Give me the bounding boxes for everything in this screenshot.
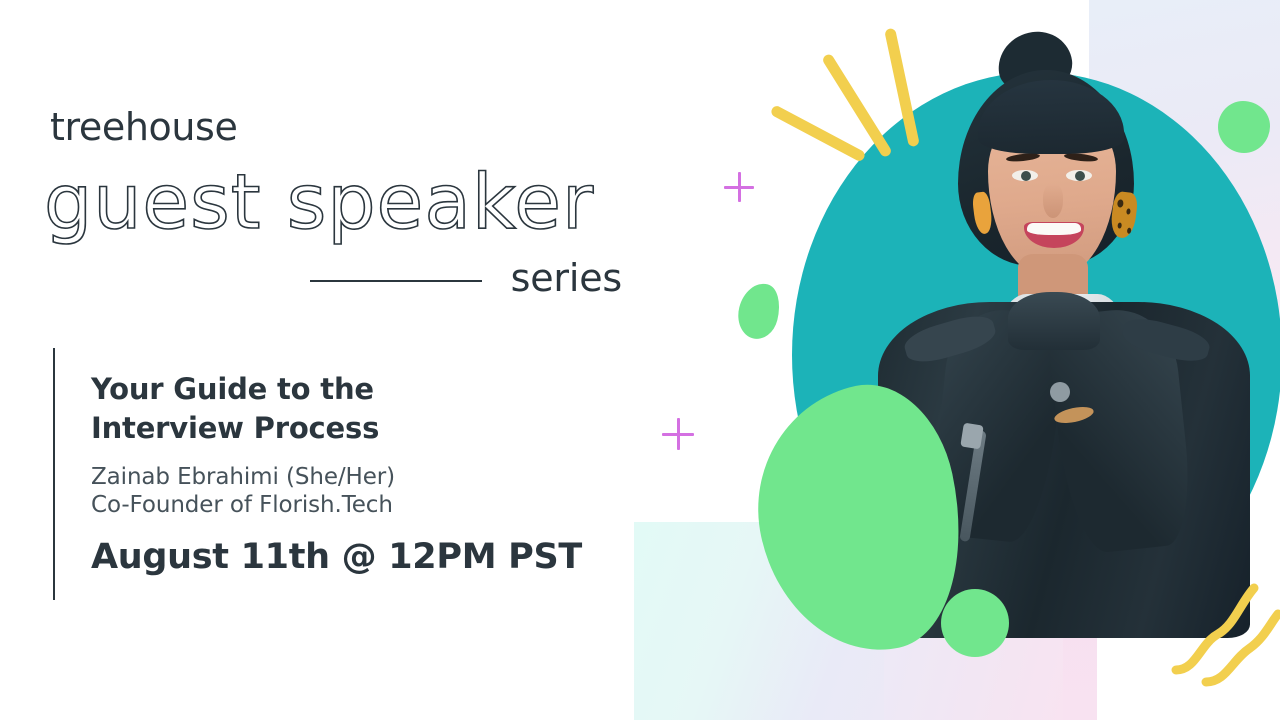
brand-wordmark: treehouse	[50, 108, 237, 146]
green-circle-bottom	[941, 589, 1009, 657]
yellow-squiggle-icon	[1170, 578, 1280, 688]
pink-plus-2-icon	[662, 418, 694, 450]
series-row: series	[310, 258, 622, 302]
series-divider-rule	[310, 280, 482, 282]
promo-slide: treehouse guest speaker series Your Guid…	[0, 0, 1280, 720]
jacket-snap-button	[1050, 382, 1070, 402]
speaker-role: Co-Founder of Florish.Tech	[91, 489, 393, 522]
session-title-line-2: Interview Process	[91, 409, 561, 448]
pupil-right	[1075, 171, 1085, 181]
session-title: Your Guide to the Interview Process	[91, 370, 561, 448]
series-label: series	[511, 258, 622, 300]
green-blob-small-left	[733, 279, 785, 343]
pupil-left	[1021, 171, 1031, 181]
session-datetime: August 11th @ 12PM PST	[91, 536, 582, 578]
vertical-accent-rule	[53, 348, 55, 600]
session-title-line-1: Your Guide to the	[91, 370, 561, 409]
nose	[1043, 184, 1063, 218]
jacket-zipper-pull	[960, 423, 984, 450]
jacket-collar	[1008, 292, 1100, 350]
teeth	[1027, 223, 1081, 235]
headline-outlined: guest speaker	[44, 162, 594, 242]
pink-plus-1-icon	[724, 172, 754, 202]
